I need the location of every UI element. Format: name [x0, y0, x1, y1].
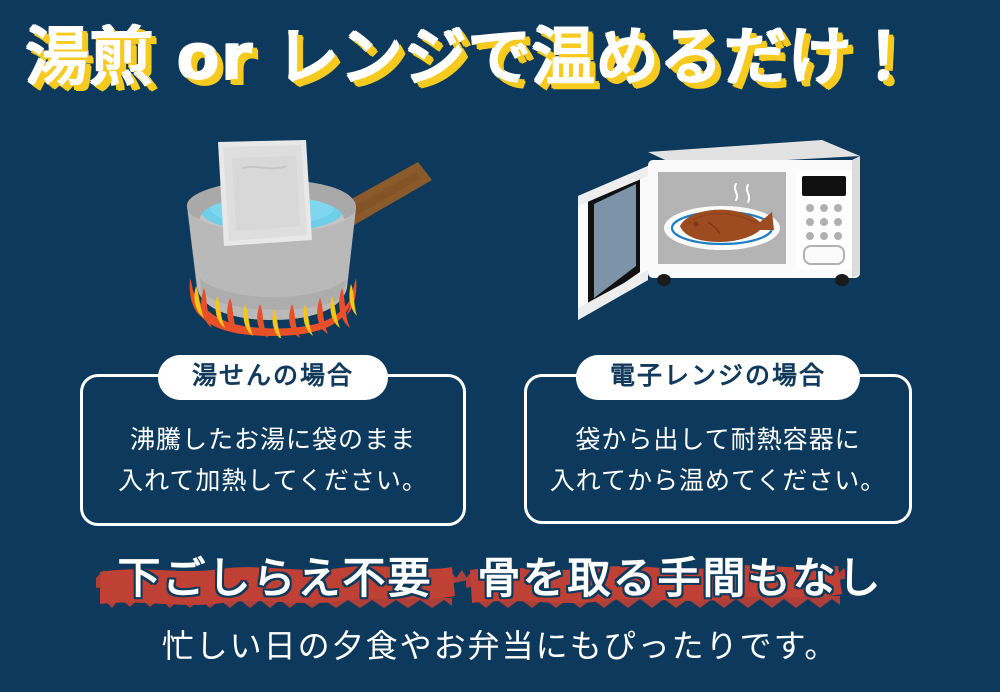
step-pill-range: 電子レンジの場合: [576, 355, 860, 400]
saucepan-illustration: [160, 128, 460, 338]
step-body-yusen: 沸騰したお湯に袋のまま 入れて加熱してください。: [83, 419, 463, 502]
footer-highlight: 下ごしらえ不要 骨を取る手間もなし: [0, 548, 1000, 610]
start-button: [804, 246, 844, 264]
step-body-range: 袋から出して耐熱容器に 入れてから温めてください。: [527, 419, 909, 502]
page-title: 湯煎 or レンジで温めるだけ！: [26, 14, 974, 102]
keypad: [806, 204, 842, 240]
display: [802, 176, 846, 196]
oven-door: [578, 166, 648, 320]
microwave-illustration: [560, 130, 890, 330]
step-pill-yusen: 湯せんの場合: [158, 355, 388, 400]
footer-closing-text: 忙しい日の夕食やお弁当にもぴったりです。: [0, 618, 1000, 674]
step-card-yusen: 湯せんの場合 沸騰したお湯に袋のまま 入れて加熱してください。: [80, 374, 466, 526]
retort-pouch-icon: [218, 140, 312, 246]
footer-highlight-text: 下ごしらえ不要 骨を取る手間もなし: [0, 548, 1000, 610]
control-panel: [796, 170, 852, 270]
step-card-range: 電子レンジの場合 袋から出して耐熱容器に 入れてから温めてください。: [524, 374, 912, 524]
infographic-root: 湯煎 or レンジで温めるだけ！: [0, 0, 1000, 692]
